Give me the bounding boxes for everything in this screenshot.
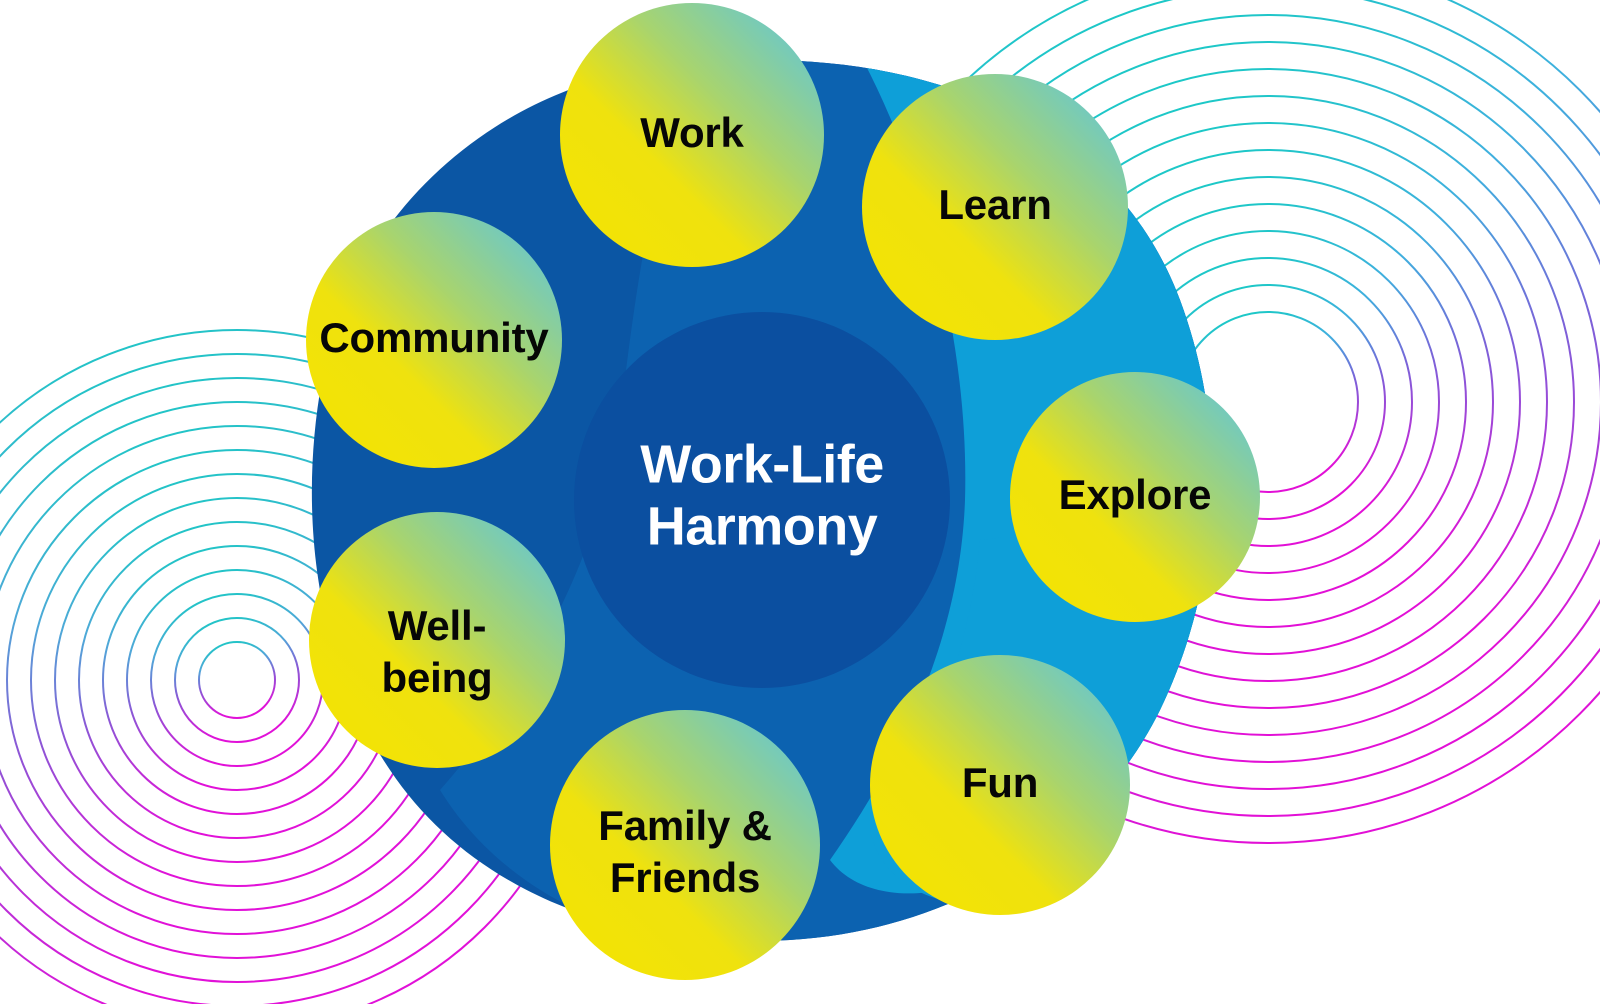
- node-community[interactable]: Community: [306, 212, 562, 468]
- node-well-being-circle[interactable]: [309, 512, 565, 768]
- node-work[interactable]: Work: [560, 3, 824, 267]
- node-explore-circle[interactable]: [1010, 372, 1260, 622]
- center-hub[interactable]: Work-Life Harmony: [574, 312, 950, 688]
- work-life-harmony-diagram: Work-Life Harmony Work Learn Explore Fun…: [0, 0, 1600, 1004]
- node-fun[interactable]: Fun: [870, 655, 1130, 915]
- node-well-being[interactable]: Well- being: [309, 512, 565, 768]
- center-circle[interactable]: [574, 312, 950, 688]
- node-work-circle[interactable]: [560, 3, 824, 267]
- diagram-canvas: Work-Life Harmony Work Learn Explore Fun…: [0, 0, 1600, 1004]
- node-learn[interactable]: Learn: [862, 74, 1128, 340]
- node-learn-circle[interactable]: [862, 74, 1128, 340]
- node-community-circle[interactable]: [306, 212, 562, 468]
- node-fun-circle[interactable]: [870, 655, 1130, 915]
- node-family-friends-circle[interactable]: [550, 710, 820, 980]
- node-family-friends[interactable]: Family & Friends: [550, 710, 820, 980]
- node-explore[interactable]: Explore: [1010, 372, 1260, 622]
